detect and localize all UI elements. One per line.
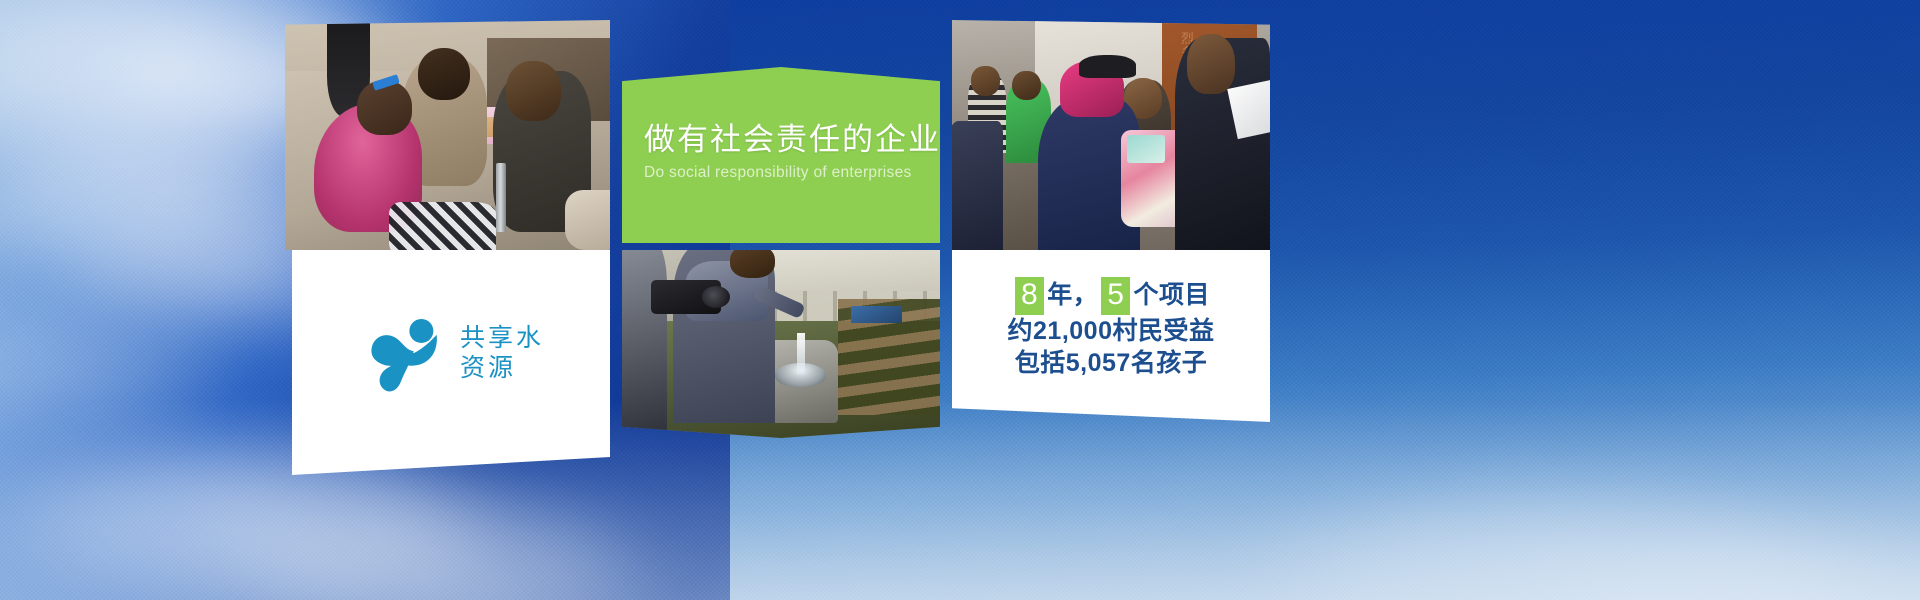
headline-content: 做有社会责任的企业 Do social responsibility of en…: [622, 67, 940, 243]
water-stream: [797, 333, 805, 374]
villager-dark-coat: [952, 121, 1003, 250]
stat-projects-unit: 个项目: [1133, 279, 1210, 312]
stats-content: 8 年， 5 个项目 约21,000村民受益 包括5,057名孩子: [952, 250, 1270, 422]
child-left-head: [357, 80, 412, 135]
child-head-left: [1012, 71, 1041, 101]
headline-title-cn: 做有社会责任的企业: [644, 122, 920, 158]
green-headline-panel: 做有社会责任的企业 Do social responsibility of en…: [622, 67, 940, 243]
man-head: [730, 250, 775, 278]
photo-artwork: [622, 250, 940, 438]
stat-years-unit: 年，: [1047, 279, 1098, 312]
stats-line-children: 包括5,057名孩子: [1015, 347, 1208, 380]
headline-subtitle-en: Do social responsibility of enterprises: [644, 164, 920, 182]
supply-package: [1127, 135, 1165, 163]
shared-water-resources-logo: 共享水 资源: [292, 250, 610, 475]
logo-content: 共享水 资源: [292, 250, 610, 475]
stats-line-villagers: 约21,000村民受益: [1008, 315, 1215, 348]
child-right-head: [506, 61, 561, 121]
towel: [565, 190, 611, 250]
photo-children-washing-hands: [285, 20, 610, 250]
panel-row-seam: [285, 244, 1271, 251]
stats-line-years-projects: 8 年， 5 个项目: [1012, 277, 1210, 315]
water-droplet-person-icon: [358, 306, 454, 402]
photo-water-tap-demo: [622, 250, 940, 438]
photo-aid-distribution: 烈多禅: [952, 20, 1270, 250]
photo-artwork: 烈多禅: [952, 20, 1270, 250]
camera-operator: [622, 250, 667, 438]
stat-years-number: 8: [1015, 277, 1044, 315]
child-middle-head: [418, 48, 470, 101]
logo-brand-text: 共享水 资源: [460, 324, 544, 383]
water-tap: [496, 163, 506, 232]
impact-stats-panel: 8 年， 5 个项目 约21,000村民受益 包括5,057名孩子: [952, 250, 1270, 422]
volunteer-head: [1187, 34, 1235, 94]
child-head-far-left: [971, 66, 1000, 96]
photo-collage: 做有社会责任的企业 Do social responsibility of en…: [0, 0, 1920, 600]
photo-artwork: [285, 20, 610, 250]
checkered-cloth: [389, 202, 496, 250]
black-hat: [1079, 55, 1136, 78]
blue-tarp: [851, 306, 902, 323]
stat-projects-number: 5: [1101, 277, 1130, 315]
